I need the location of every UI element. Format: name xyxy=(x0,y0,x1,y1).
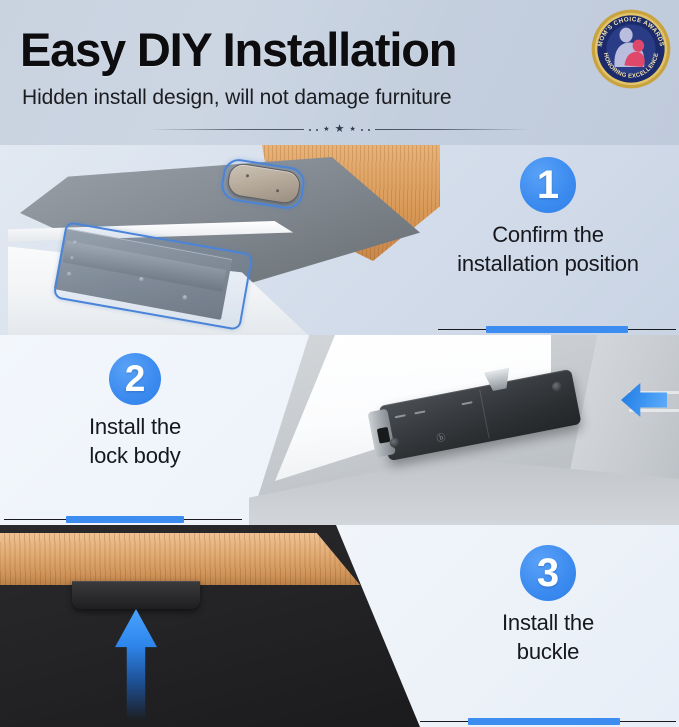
page-subtitle: Hidden install design, will not damage f… xyxy=(22,86,451,110)
lock-body-illustration: ⓑ xyxy=(249,335,679,525)
ornament-dot xyxy=(309,129,311,131)
divider-accent-bar xyxy=(468,718,620,725)
star-divider-ornament: ★ ★ ★ xyxy=(0,124,679,135)
step-1-divider xyxy=(438,325,676,333)
step-2-panel: ⓑ 2 Install the lock body xyxy=(0,335,679,525)
lock-brand-logo: ⓑ xyxy=(435,430,447,445)
step-3-text: Install the buckle xyxy=(502,608,594,667)
lock-seam xyxy=(479,390,490,439)
drawer-cutaway-illustration xyxy=(0,145,440,335)
wood-desktop-edge xyxy=(0,533,360,585)
page-title: Easy DIY Installation xyxy=(20,22,456,77)
lock-marking xyxy=(395,414,406,418)
step-2-number-badge: 2 xyxy=(109,353,161,405)
step-3-copy: 3 Install the buckle xyxy=(423,545,673,667)
divider-accent-bar xyxy=(486,326,628,333)
step-1-panel: 1 Confirm the installation position xyxy=(0,145,679,335)
step-2-text-line-1: Install the xyxy=(89,412,181,441)
step-3-number-badge: 3 xyxy=(520,545,576,601)
header-banner: Easy DIY Installation Hidden install des… xyxy=(0,0,679,145)
star-icon-large: ★ xyxy=(335,124,345,135)
step-2-text: Install the lock body xyxy=(89,412,181,471)
ornament-line-right xyxy=(375,129,530,130)
star-icon-small: ★ xyxy=(323,126,329,133)
step-1-copy: 1 Confirm the installation position xyxy=(421,157,675,279)
lock-marking xyxy=(461,401,472,405)
step-1-text-line-2: installation position xyxy=(457,249,639,278)
step-2-divider xyxy=(4,515,242,523)
step-3-divider xyxy=(420,717,676,725)
lock-marking xyxy=(414,410,425,414)
step-1-text: Confirm the installation position xyxy=(457,220,639,279)
ornament-line-left xyxy=(149,129,304,130)
divider-accent-bar xyxy=(66,516,184,523)
installation-infographic: Easy DIY Installation Hidden install des… xyxy=(0,0,679,727)
step-3-text-line-2: buckle xyxy=(502,637,594,666)
step-3-text-line-1: Install the xyxy=(502,608,594,637)
step-3-panel: 3 Install the buckle xyxy=(0,525,679,727)
buckle-mounted xyxy=(72,581,200,609)
ornament-dot xyxy=(361,129,363,131)
step-1-number-badge: 1 xyxy=(520,157,576,213)
step-1-text-line-1: Confirm the xyxy=(457,220,639,249)
step-2-copy: 2 Install the lock body xyxy=(10,353,260,471)
step-2-text-line-2: lock body xyxy=(89,441,181,470)
ornament-dot xyxy=(316,129,318,131)
screw-hole-icon xyxy=(551,381,563,393)
moms-choice-awards-seal-icon: MOM'S CHOICE AWARDS HONORING EXCELLENCE xyxy=(590,8,672,90)
ornament-dot xyxy=(368,129,370,131)
star-icon-small: ★ xyxy=(349,126,355,133)
buckle-under-desk-illustration xyxy=(0,525,420,727)
